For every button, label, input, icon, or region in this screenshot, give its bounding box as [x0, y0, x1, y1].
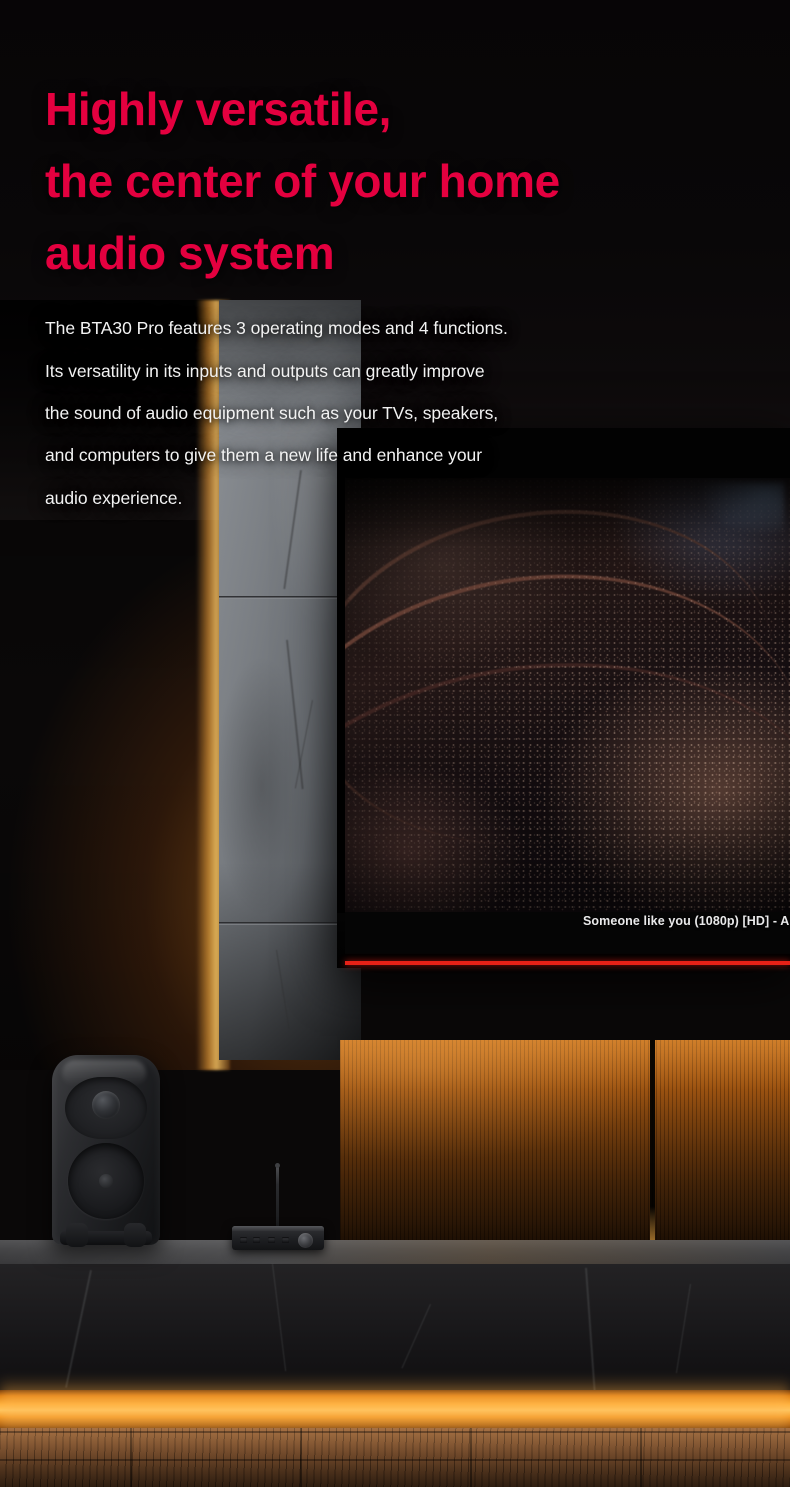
- page-headline: Highly versatile, the center of your hom…: [45, 74, 745, 289]
- device-volume-knob: [298, 1233, 313, 1248]
- console-front-face: [0, 1264, 790, 1394]
- speaker-foot: [124, 1223, 146, 1247]
- speaker-tweeter: [92, 1091, 120, 1119]
- marble-vein: [65, 1270, 92, 1388]
- page-body-copy: The BTA30 Pro features 3 operating modes…: [45, 307, 745, 519]
- cabinet-door-seam: [650, 1040, 655, 1265]
- device-antenna: [276, 1166, 279, 1228]
- device-port: [240, 1237, 247, 1243]
- tv-video-title: Someone like you (1080p) [HD] - A: [583, 914, 789, 928]
- speaker-woofer: [68, 1143, 144, 1219]
- device-port: [253, 1237, 260, 1243]
- led-accent-strip: [0, 1390, 790, 1432]
- marble-vein: [402, 1304, 432, 1368]
- copy-block: Highly versatile, the center of your hom…: [45, 74, 745, 519]
- bta30-pro-device: [232, 1218, 324, 1250]
- screen-vignette: [345, 478, 790, 913]
- marble-vein: [676, 1284, 691, 1373]
- speaker-foot: [66, 1223, 88, 1247]
- tv-progress-bar[interactable]: [345, 961, 790, 965]
- marble-vein: [272, 1264, 287, 1371]
- device-top-plate: [232, 1226, 324, 1231]
- device-port: [282, 1237, 289, 1243]
- product-marketing-banner: Someone like you (1080p) [HD] - A Highly…: [0, 0, 790, 1487]
- wood-cabinet-doors: [340, 1040, 790, 1265]
- device-port: [268, 1237, 275, 1243]
- wood-plank-floor: [0, 1428, 790, 1487]
- studio-monitor-speaker: [52, 1055, 160, 1245]
- tv-screen: [345, 478, 790, 913]
